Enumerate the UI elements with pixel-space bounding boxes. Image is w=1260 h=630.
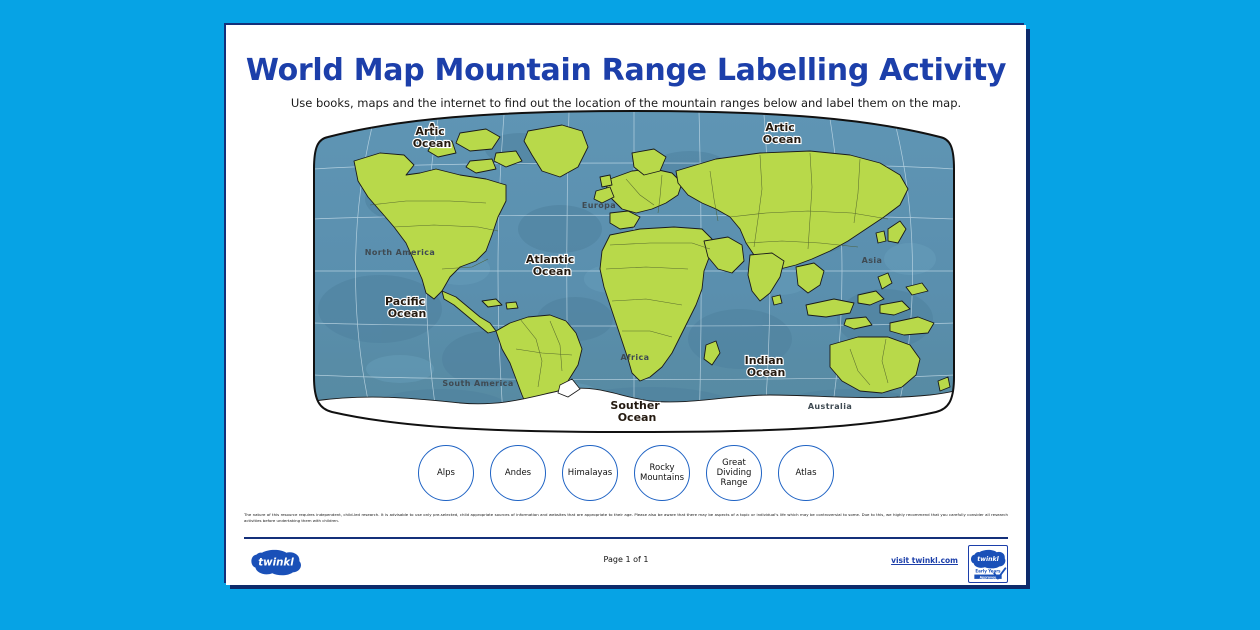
range-circle-andes[interactable]: Andes bbox=[490, 445, 546, 501]
range-circle-label: Great Dividing Range bbox=[714, 458, 755, 488]
continent-label-south-america: South America bbox=[442, 379, 513, 388]
page-subtitle: Use books, maps and the internet to find… bbox=[226, 96, 1026, 110]
badge-wordmark: twinkl bbox=[977, 555, 999, 563]
ocean-label-southern: Souther Ocean bbox=[610, 399, 663, 424]
page-title: World Map Mountain Range Labelling Activ… bbox=[226, 53, 1026, 88]
range-circle-atlas[interactable]: Atlas bbox=[778, 445, 834, 501]
early-years-approved-badge[interactable]: twinkl Early Years Approved bbox=[968, 545, 1008, 583]
range-circle-great-dividing-range[interactable]: Great Dividing Range bbox=[706, 445, 762, 501]
footer-divider bbox=[244, 537, 1008, 539]
map-globe bbox=[310, 109, 958, 434]
badge-line1: Early Years bbox=[975, 569, 1001, 574]
badge-line2: Approved bbox=[980, 575, 997, 579]
continent-label-africa: Africa bbox=[621, 353, 650, 362]
range-circle-label: Himalayas bbox=[565, 468, 615, 478]
continent-label-north-america: North America bbox=[365, 248, 435, 257]
page-footer: twinkl Page 1 of 1 visit twinkl.com twin… bbox=[226, 543, 1026, 585]
ocean-label-atlantic: Atlantic Ocean bbox=[526, 253, 578, 278]
range-circle-label: Andes bbox=[502, 468, 534, 478]
world-map[interactable]: A Artic Ocean Artic Ocean Atlantic bbox=[310, 109, 958, 434]
ocean-label-pacific: Pacific Ocean bbox=[385, 295, 429, 320]
range-circle-label: Alps bbox=[434, 468, 458, 478]
mountain-range-circle-row: Alps Andes Himalayas Rocky Mountains Gre… bbox=[226, 445, 1026, 501]
continent-label-asia: Asia bbox=[862, 256, 883, 265]
range-circle-rocky-mountains[interactable]: Rocky Mountains bbox=[634, 445, 690, 501]
screenshot-root: World Map Mountain Range Labelling Activ… bbox=[0, 0, 1260, 630]
ocean-label-arctic-left: Artic Ocean bbox=[413, 125, 452, 150]
continent-label-europa: Europa bbox=[582, 201, 616, 210]
ocean-label-indian: Indian Ocean bbox=[745, 354, 788, 379]
range-circle-label: Atlas bbox=[793, 468, 820, 478]
continent-label-australia: Australia bbox=[808, 402, 852, 411]
range-circle-alps[interactable]: Alps bbox=[418, 445, 474, 501]
range-circle-himalayas[interactable]: Himalayas bbox=[562, 445, 618, 501]
disclaimer-text: The nature of this resource requires ind… bbox=[244, 512, 1008, 524]
range-circle-label: Rocky Mountains bbox=[637, 463, 687, 483]
ocean-label-arctic-right: Artic Ocean bbox=[763, 121, 802, 146]
worksheet-page: World Map Mountain Range Labelling Activ… bbox=[226, 25, 1026, 585]
visit-twinkl-link[interactable]: visit twinkl.com bbox=[891, 556, 958, 565]
